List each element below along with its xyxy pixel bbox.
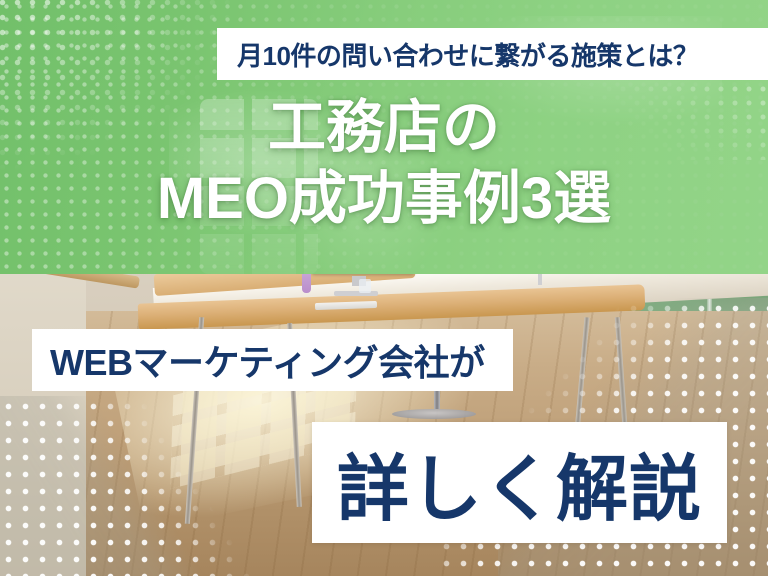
glass-cup [359,279,371,293]
thumbnail-canvas: 月10件の問い合わせに繋がる施策とは？ 工務店の MEO成功事例3選 WEBマー… [0,0,768,576]
top-subtitle-banner: 月10件の問い合わせに繋がる施策とは？ [217,28,768,80]
cta-banner: 詳しく解説 [312,422,727,543]
top-subtitle-text: 月10件の問い合わせに繋がる施策とは？ [237,36,698,73]
company-banner: WEBマーケティング会社が [32,329,513,391]
imac-foot [334,291,378,296]
company-banner-text: WEBマーケティング会社が [50,334,485,386]
hero-headline: 工務店の MEO成功事例3選 [0,96,768,232]
dot-pattern-bottom-left [0,398,300,576]
hero-headline-line2: MEO成功事例3選 [0,167,768,232]
hero-headline-line1: 工務店の [0,96,768,161]
cta-banner-text: 詳しく解説 [337,430,702,535]
